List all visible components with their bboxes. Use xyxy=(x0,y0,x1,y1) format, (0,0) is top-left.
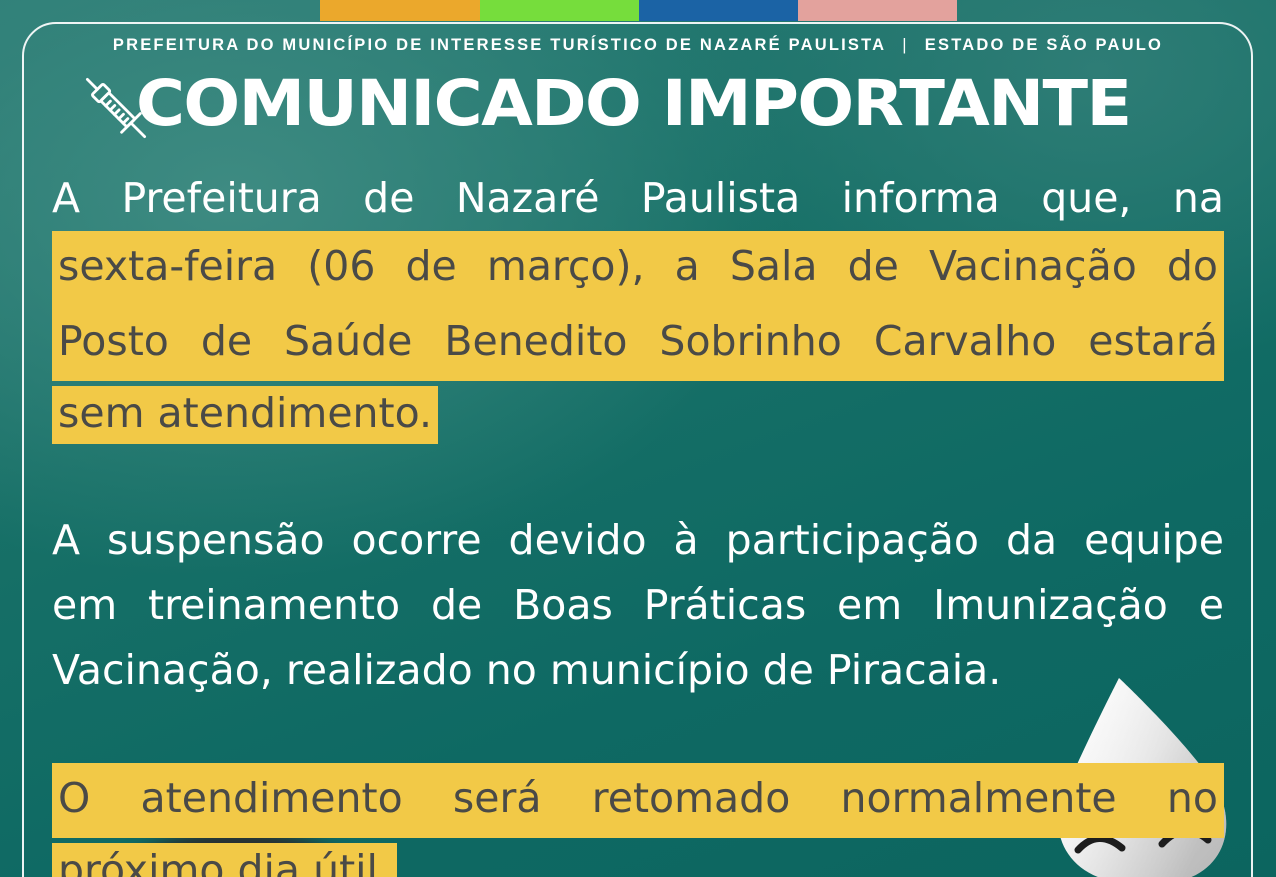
color-bar-pink xyxy=(798,0,957,21)
paragraph-3: O atendimento será retomado normalmente … xyxy=(52,763,1224,877)
color-bar-orange xyxy=(320,0,480,21)
title-row: COMUNICADO IMPORTANTE xyxy=(0,68,1276,146)
paragraph-1: A Prefeitura de Nazaré Paulista informa … xyxy=(52,166,1224,446)
body-line-highlighted: sem atendimento. xyxy=(52,381,1224,446)
body-line-highlighted: Posto de Saúde Benedito Sobrinho Carvalh… xyxy=(52,306,1224,381)
color-bar-green xyxy=(480,0,639,21)
body-line: em treinamento de Boas Práticas em Imuni… xyxy=(52,573,1224,638)
top-color-bars xyxy=(320,0,957,21)
poster-canvas: PREFEITURA DO MUNICÍPIO DE INTERESSE TUR… xyxy=(0,0,1276,877)
paragraph-2: A suspensão ocorre devido à participação… xyxy=(52,508,1224,703)
paragraph-spacer xyxy=(52,703,1224,763)
body-line-highlighted: O atendimento será retomado normalmente … xyxy=(52,763,1224,838)
body-line: A Prefeitura de Nazaré Paulista informa … xyxy=(52,166,1224,231)
eyebrow-left-text: PREFEITURA DO MUNICÍPIO DE INTERESSE TUR… xyxy=(113,36,886,54)
body-line-highlighted: próximo dia útil. xyxy=(52,838,1224,877)
paragraph-spacer xyxy=(52,446,1224,508)
body-line-highlighted: sexta-feira (06 de março), a Sala de Vac… xyxy=(52,231,1224,306)
body-line: Vacinação, realizado no município de Pir… xyxy=(52,638,1224,703)
announcement-body: A Prefeitura de Nazaré Paulista informa … xyxy=(52,166,1224,877)
body-line: A suspensão ocorre devido à participação… xyxy=(52,508,1224,573)
eyebrow-right-text: ESTADO DE SÃO PAULO xyxy=(925,36,1163,54)
header-eyebrow: PREFEITURA DO MUNICÍPIO DE INTERESSE TUR… xyxy=(0,36,1276,55)
page-title: COMUNICADO IMPORTANTE xyxy=(136,68,1238,140)
eyebrow-separator: | xyxy=(886,36,925,54)
color-bar-blue xyxy=(639,0,798,21)
